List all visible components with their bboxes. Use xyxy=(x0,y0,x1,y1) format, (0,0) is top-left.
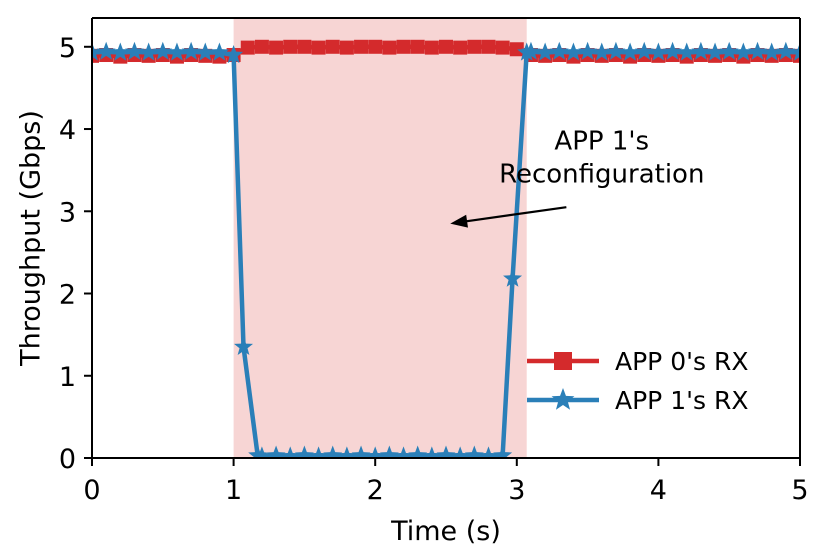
data-point-marker xyxy=(297,40,311,54)
data-point-marker xyxy=(312,41,326,55)
legend-label-app1: APP 1's RX xyxy=(615,386,748,415)
data-point-marker xyxy=(326,40,340,54)
x-tick-label: 5 xyxy=(791,475,808,506)
data-point-marker xyxy=(411,40,425,54)
data-point-marker xyxy=(269,41,283,55)
annotation-text-line1: APP 1's xyxy=(554,127,649,157)
data-point-marker xyxy=(425,41,439,55)
data-point-marker xyxy=(510,42,524,56)
data-point-marker xyxy=(340,41,354,55)
y-tick-label: 5 xyxy=(59,33,76,64)
x-tick-label: 3 xyxy=(508,475,525,506)
annotation-text-line2: Reconfiguration xyxy=(499,160,704,190)
reconfiguration-shaded-region xyxy=(234,18,527,458)
x-tick-label: 4 xyxy=(650,475,667,506)
data-point-marker xyxy=(439,40,453,54)
y-tick-label: 0 xyxy=(59,444,76,475)
y-tick-label: 3 xyxy=(59,197,76,228)
data-point-marker xyxy=(481,40,495,54)
data-point-marker xyxy=(354,40,368,54)
chart-figure: 012345012345 APP 1's Reconfiguration APP… xyxy=(0,0,830,554)
data-point-marker xyxy=(467,40,481,54)
data-point-marker xyxy=(453,41,467,55)
data-point-marker xyxy=(397,40,411,54)
y-tick-label: 1 xyxy=(59,362,76,393)
x-tick-label: 2 xyxy=(367,475,384,506)
data-point-marker xyxy=(241,41,255,55)
y-tick-label: 4 xyxy=(59,115,76,146)
legend-marker-square-app0 xyxy=(554,352,572,370)
y-tick-label: 2 xyxy=(59,280,76,311)
x-tick-label: 1 xyxy=(225,475,242,506)
data-point-marker xyxy=(255,40,269,54)
x-axis-label: Time (s) xyxy=(390,516,501,547)
shaded-region-rect xyxy=(234,18,527,458)
y-axis-label: Throughput (Gbps) xyxy=(15,110,46,367)
data-point-marker xyxy=(496,41,510,55)
x-tick-label: 0 xyxy=(83,475,100,506)
throughput-line-chart: 012345012345 APP 1's Reconfiguration APP… xyxy=(0,0,830,554)
data-point-marker xyxy=(368,40,382,54)
data-point-marker xyxy=(382,41,396,55)
data-point-marker xyxy=(283,40,297,54)
legend-label-app0: APP 0's RX xyxy=(615,347,748,376)
